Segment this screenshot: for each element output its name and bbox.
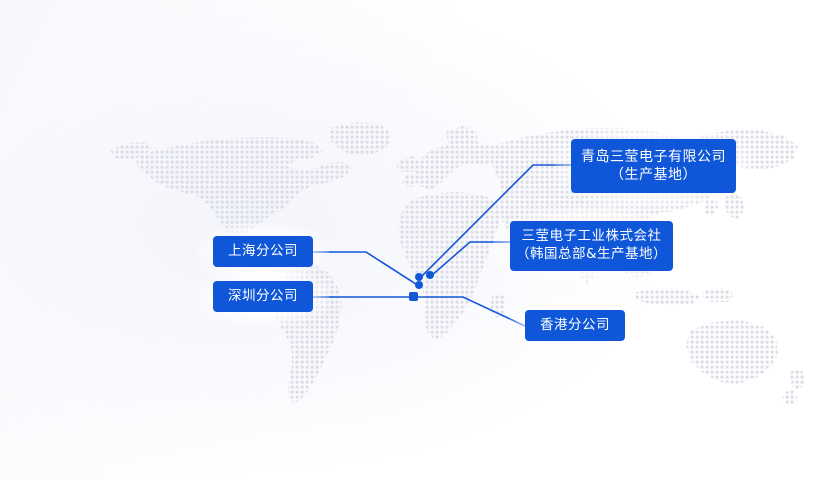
connector-shanghai <box>313 252 419 286</box>
hongkong-label[interactable]: 香港分公司 <box>525 310 625 341</box>
world-map-diagram: 青岛三莹电子有限公司 （生产基地） 三莹电子工业株式会社 （韩国总部&生产基地）… <box>0 0 824 480</box>
shanghai-label[interactable]: 上海分公司 <box>213 236 313 267</box>
connector-korea <box>431 242 510 276</box>
shanghai-label-line1: 上海分公司 <box>228 243 298 261</box>
shenzhen-label-line1: 深圳分公司 <box>228 288 298 306</box>
shenzhen-label[interactable]: 深圳分公司 <box>213 281 313 312</box>
marker-shanghai[interactable] <box>415 281 423 289</box>
hongkong-label-line1: 香港分公司 <box>540 317 610 335</box>
qingdao-label-line1: 青岛三莹电子有限公司 <box>581 148 726 166</box>
connector-lines <box>0 0 824 480</box>
connector-hongkong <box>414 297 525 326</box>
qingdao-label[interactable]: 青岛三莹电子有限公司 （生产基地） <box>571 139 736 193</box>
korea-hq-label-line2: （韩国总部&生产基地） <box>516 246 667 264</box>
marker-qingdao[interactable] <box>415 273 423 281</box>
korea-hq-label[interactable]: 三莹电子工业株式会社 （韩国总部&生产基地） <box>510 221 673 271</box>
qingdao-label-line2: （生产基地） <box>610 166 697 184</box>
marker-korea[interactable] <box>426 271 434 279</box>
marker-shenzhen-hongkong[interactable] <box>409 292 418 301</box>
korea-hq-label-line1: 三莹电子工业株式会社 <box>522 228 662 246</box>
